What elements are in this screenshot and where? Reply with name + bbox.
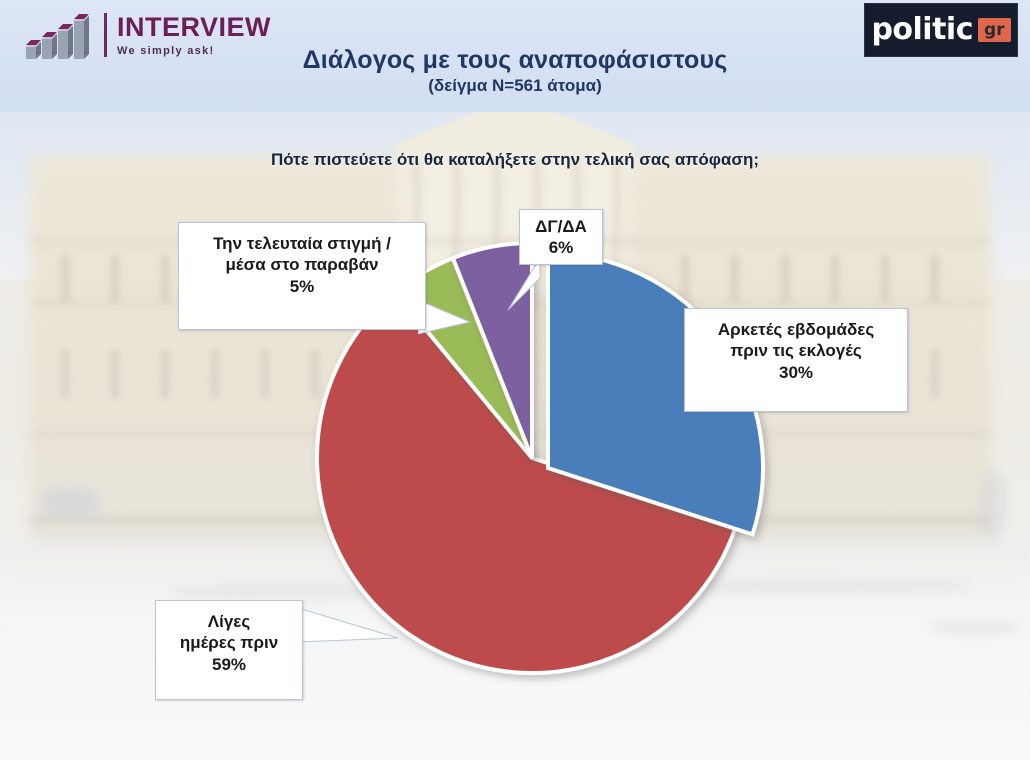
callout-dgda[interactable]: ΔΓ/ΔΑ 6% [519, 209, 603, 265]
callout-label-line1: Αρκετές εβδομάδες [697, 319, 895, 340]
callout-value: 30% [697, 362, 895, 383]
callout-label-line2: πριν τις εκλογές [697, 340, 895, 361]
callout-tail-last-minute [418, 300, 488, 350]
callout-value: 59% [168, 654, 290, 675]
callout-several-weeks[interactable]: Αρκετές εβδομάδες πριν τις εκλογές 30% [684, 308, 908, 412]
slide-canvas: INTERVIEW We simply ask! politic gr Διάλ… [0, 0, 1030, 760]
callout-tail-few-days [298, 608, 403, 658]
callout-value: 5% [191, 276, 413, 297]
callout-last-minute[interactable]: Την τελευταία στιγμή / μέσα στο παραβάν … [178, 222, 426, 330]
callout-few-days[interactable]: Λίγες ημέρες πριν 59% [155, 600, 303, 700]
callout-label-line2: ημέρες πριν [168, 632, 290, 653]
callout-label-line1: ΔΓ/ΔΑ [526, 216, 596, 237]
callout-label-line2: μέσα στο παραβάν [191, 254, 413, 275]
callout-label-line1: Την τελευταία στιγμή / [191, 233, 413, 254]
callout-label-line1: Λίγες [168, 611, 290, 632]
callout-value: 6% [526, 237, 596, 258]
callout-tail-dgda [506, 258, 546, 316]
